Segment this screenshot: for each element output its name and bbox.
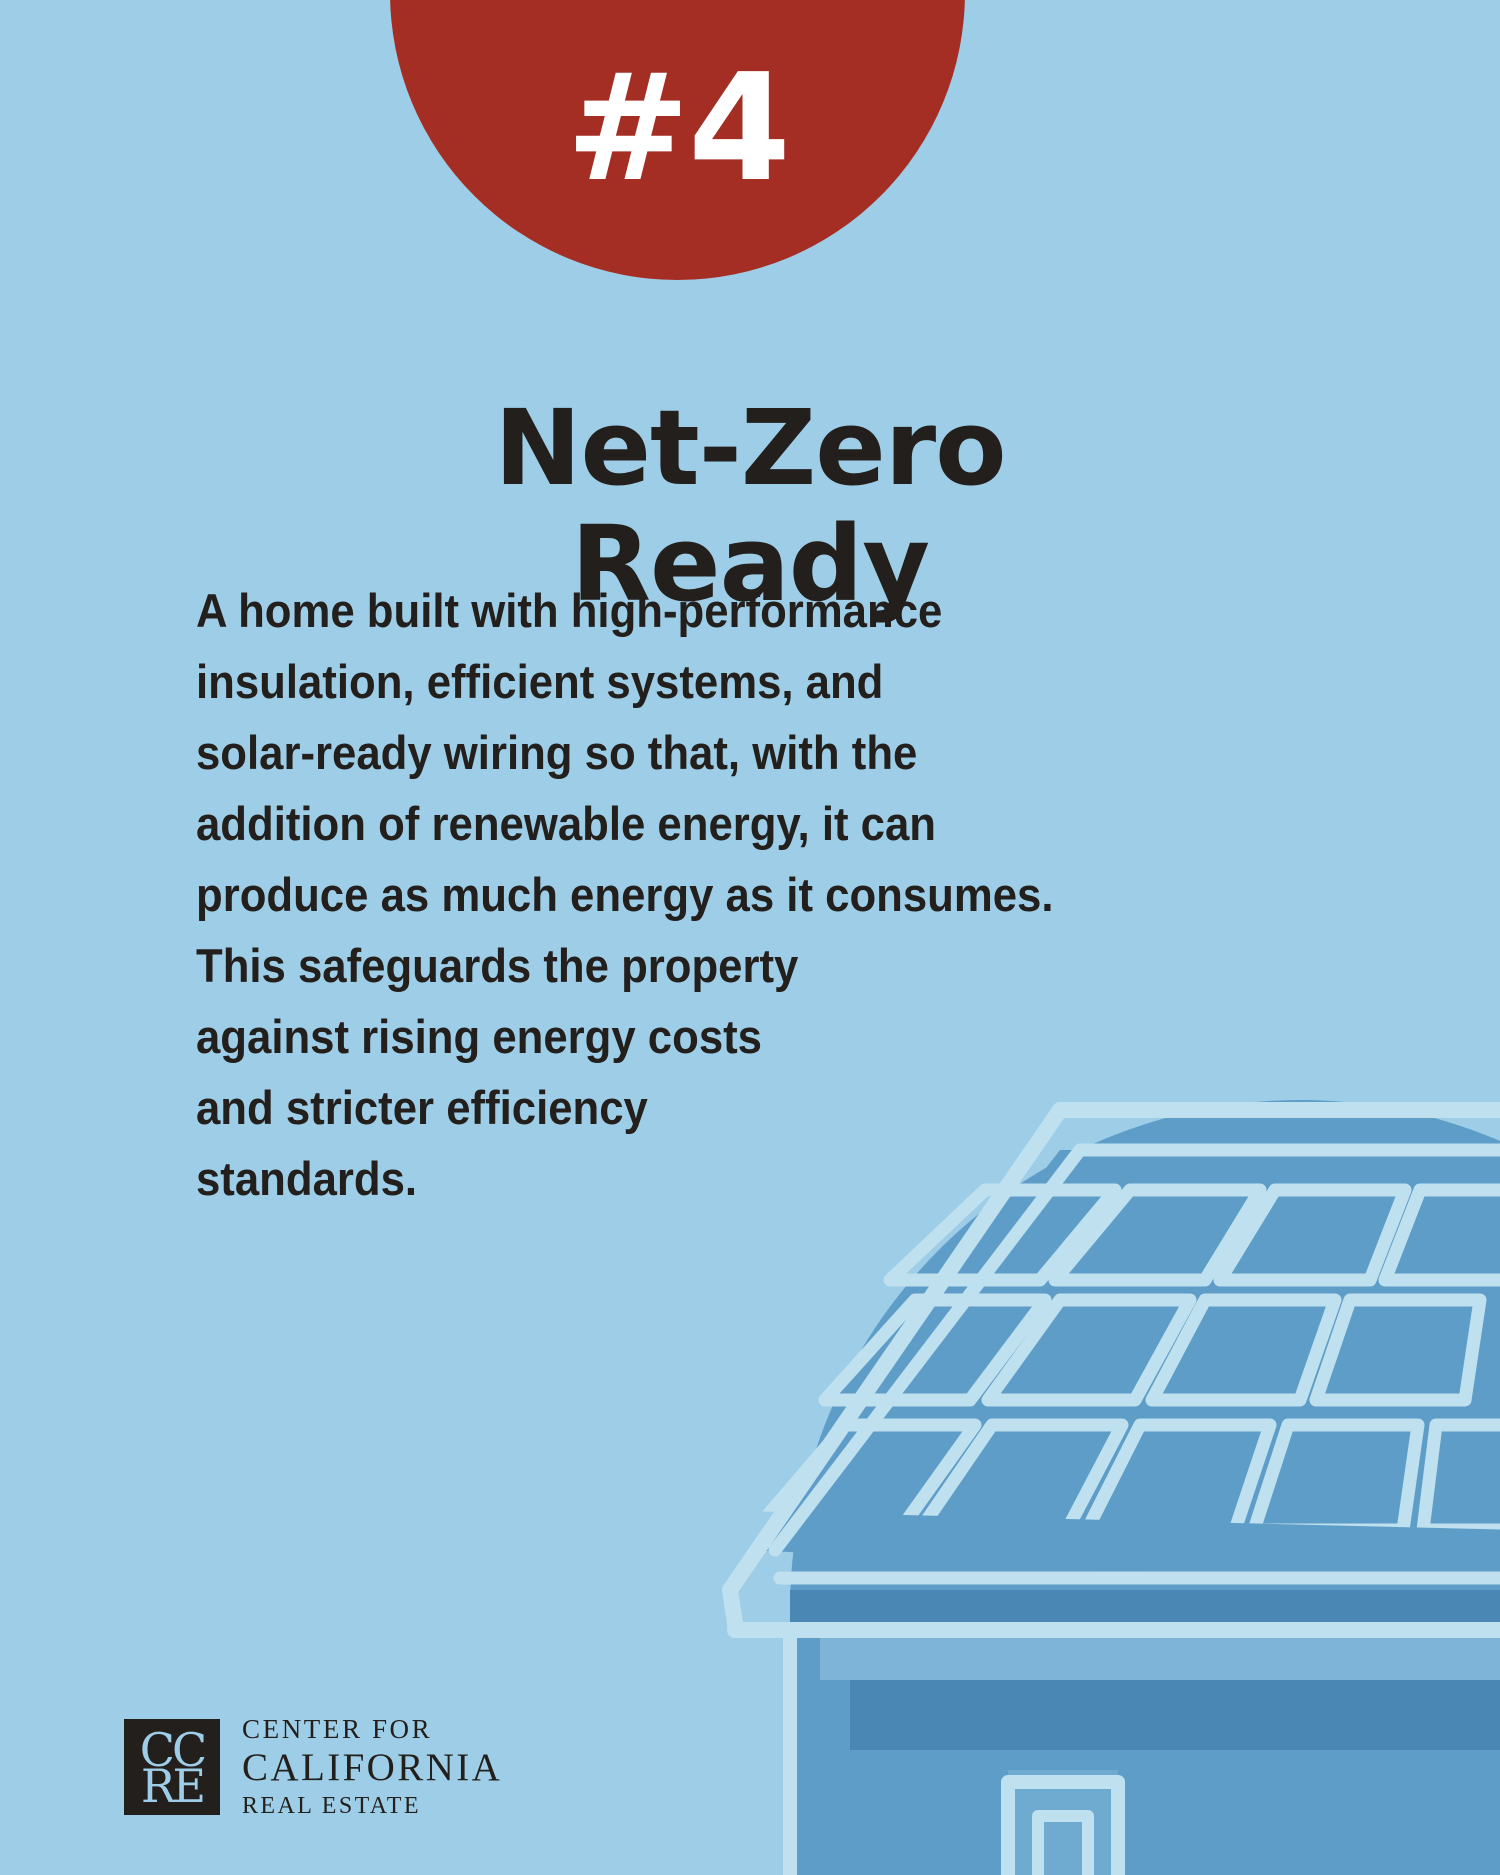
body-line: addition of renewable energy, it can (196, 788, 1033, 859)
body-line: produce as much energy as it consumes. (196, 859, 1033, 930)
poster-card: #4 Net-Zero Ready A home built with high… (0, 0, 1500, 1875)
logo-text-line-1: CENTER FOR (242, 1716, 502, 1743)
body-line: This safeguards the property (196, 930, 1033, 1001)
badge-number-label: #4 (566, 54, 789, 280)
body-line: insulation, efficient systems, and (196, 646, 1033, 717)
ccre-logo: CC RE CENTER FOR CALIFORNIA REAL ESTATE (124, 1716, 502, 1818)
ccre-logo-mark: CC RE (124, 1719, 220, 1815)
ccre-logo-wordmark: CENTER FOR CALIFORNIA REAL ESTATE (242, 1716, 502, 1818)
body-line: solar-ready wiring so that, with the (196, 717, 1033, 788)
logo-text-line-2: CALIFORNIA (242, 1748, 502, 1787)
body-line: against rising energy costs (196, 1001, 1033, 1072)
body-line: and stricter efficiency (196, 1072, 1033, 1143)
number-badge: #4 (390, 0, 965, 280)
body-line: A home built with high-performance (196, 575, 1033, 646)
body-line: standards. (196, 1143, 1033, 1214)
body-copy: A home built with high-performance insul… (196, 575, 1033, 1214)
title-line-1: Net-Zero (0, 390, 1500, 506)
logo-mark-bottom: RE (124, 1763, 220, 1809)
logo-text-line-3: REAL ESTATE (242, 1794, 502, 1818)
